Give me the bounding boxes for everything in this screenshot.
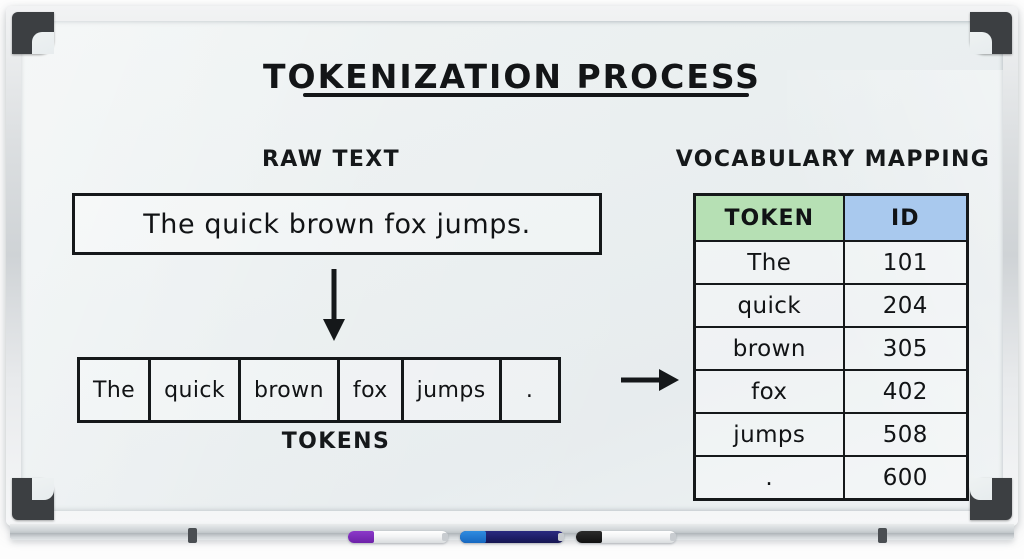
cell-id: 600 — [844, 456, 968, 500]
token-strip: Thequickbrownfoxjumps. — [77, 357, 561, 423]
diagram-title-text: TOKENIZATION PROCESS — [263, 57, 761, 96]
table-row: quick204 — [695, 284, 968, 327]
table-row: The101 — [695, 241, 968, 284]
tokens-caption: TOKENS — [161, 429, 511, 454]
table-header-row: TOKEN ID — [695, 195, 968, 242]
column-header-token: TOKEN — [695, 195, 844, 242]
marker-tray-stop-left — [188, 528, 197, 543]
vocabulary-caption: VOCABULARY MAPPING — [643, 147, 1003, 172]
black-marker-cap — [576, 531, 602, 543]
table-row: brown305 — [695, 327, 968, 370]
cell-id: 305 — [844, 327, 968, 370]
token-cell: jumps — [404, 360, 502, 420]
token-cell: fox — [340, 360, 404, 420]
blue-marker-cap — [460, 531, 486, 543]
marker-tray-stop-right — [878, 528, 887, 543]
table-row: jumps508 — [695, 413, 968, 456]
raw-text-value: The quick brown fox jumps. — [143, 209, 531, 240]
column-header-id: ID — [844, 195, 968, 242]
diagram-title: TOKENIZATION PROCESS — [21, 57, 1003, 96]
cell-id: 204 — [844, 284, 968, 327]
purple-marker[interactable] — [348, 531, 448, 543]
corner-bracket-bottom-right — [970, 478, 1012, 520]
cell-id: 508 — [844, 413, 968, 456]
table-row: fox402 — [695, 370, 968, 413]
raw-text-box: The quick brown fox jumps. — [72, 193, 602, 255]
token-cell: brown — [241, 360, 340, 420]
vocabulary-table: TOKEN ID The101quick204brown305fox402jum… — [693, 193, 969, 501]
token-cell: . — [502, 360, 558, 420]
token-cell: The — [80, 360, 151, 420]
cell-token: fox — [695, 370, 844, 413]
cell-token: The — [695, 241, 844, 284]
black-marker[interactable] — [576, 531, 676, 543]
whiteboard-scene: TOKENIZATION PROCESS RAW TEXT The quick … — [0, 0, 1024, 559]
diagram-title-underline — [303, 93, 749, 97]
corner-bracket-bottom-left — [12, 478, 54, 520]
cell-token: quick — [695, 284, 844, 327]
purple-marker-cap — [348, 531, 374, 543]
purple-marker-tip — [442, 533, 448, 541]
cell-id: 101 — [844, 241, 968, 284]
table-row: .600 — [695, 456, 968, 500]
corner-bracket-top-right — [970, 12, 1012, 54]
arrow-down-icon — [321, 269, 347, 343]
blue-marker-tip — [558, 533, 564, 541]
whiteboard-frame: TOKENIZATION PROCESS RAW TEXT The quick … — [6, 6, 1018, 526]
cell-id: 402 — [844, 370, 968, 413]
cell-token: brown — [695, 327, 844, 370]
cell-token: . — [695, 456, 844, 500]
corner-bracket-top-left — [12, 12, 54, 54]
black-marker-tip — [670, 533, 676, 541]
vocabulary-table-header: TOKEN ID — [695, 195, 968, 242]
blue-marker[interactable] — [460, 531, 564, 543]
token-cell: quick — [151, 360, 241, 420]
raw-text-caption: RAW TEXT — [156, 147, 506, 172]
vocabulary-table-body: The101quick204brown305fox402jumps508.600 — [695, 241, 968, 500]
arrow-right-icon — [621, 366, 681, 394]
cell-token: jumps — [695, 413, 844, 456]
whiteboard-surface: TOKENIZATION PROCESS RAW TEXT The quick … — [21, 21, 1003, 511]
